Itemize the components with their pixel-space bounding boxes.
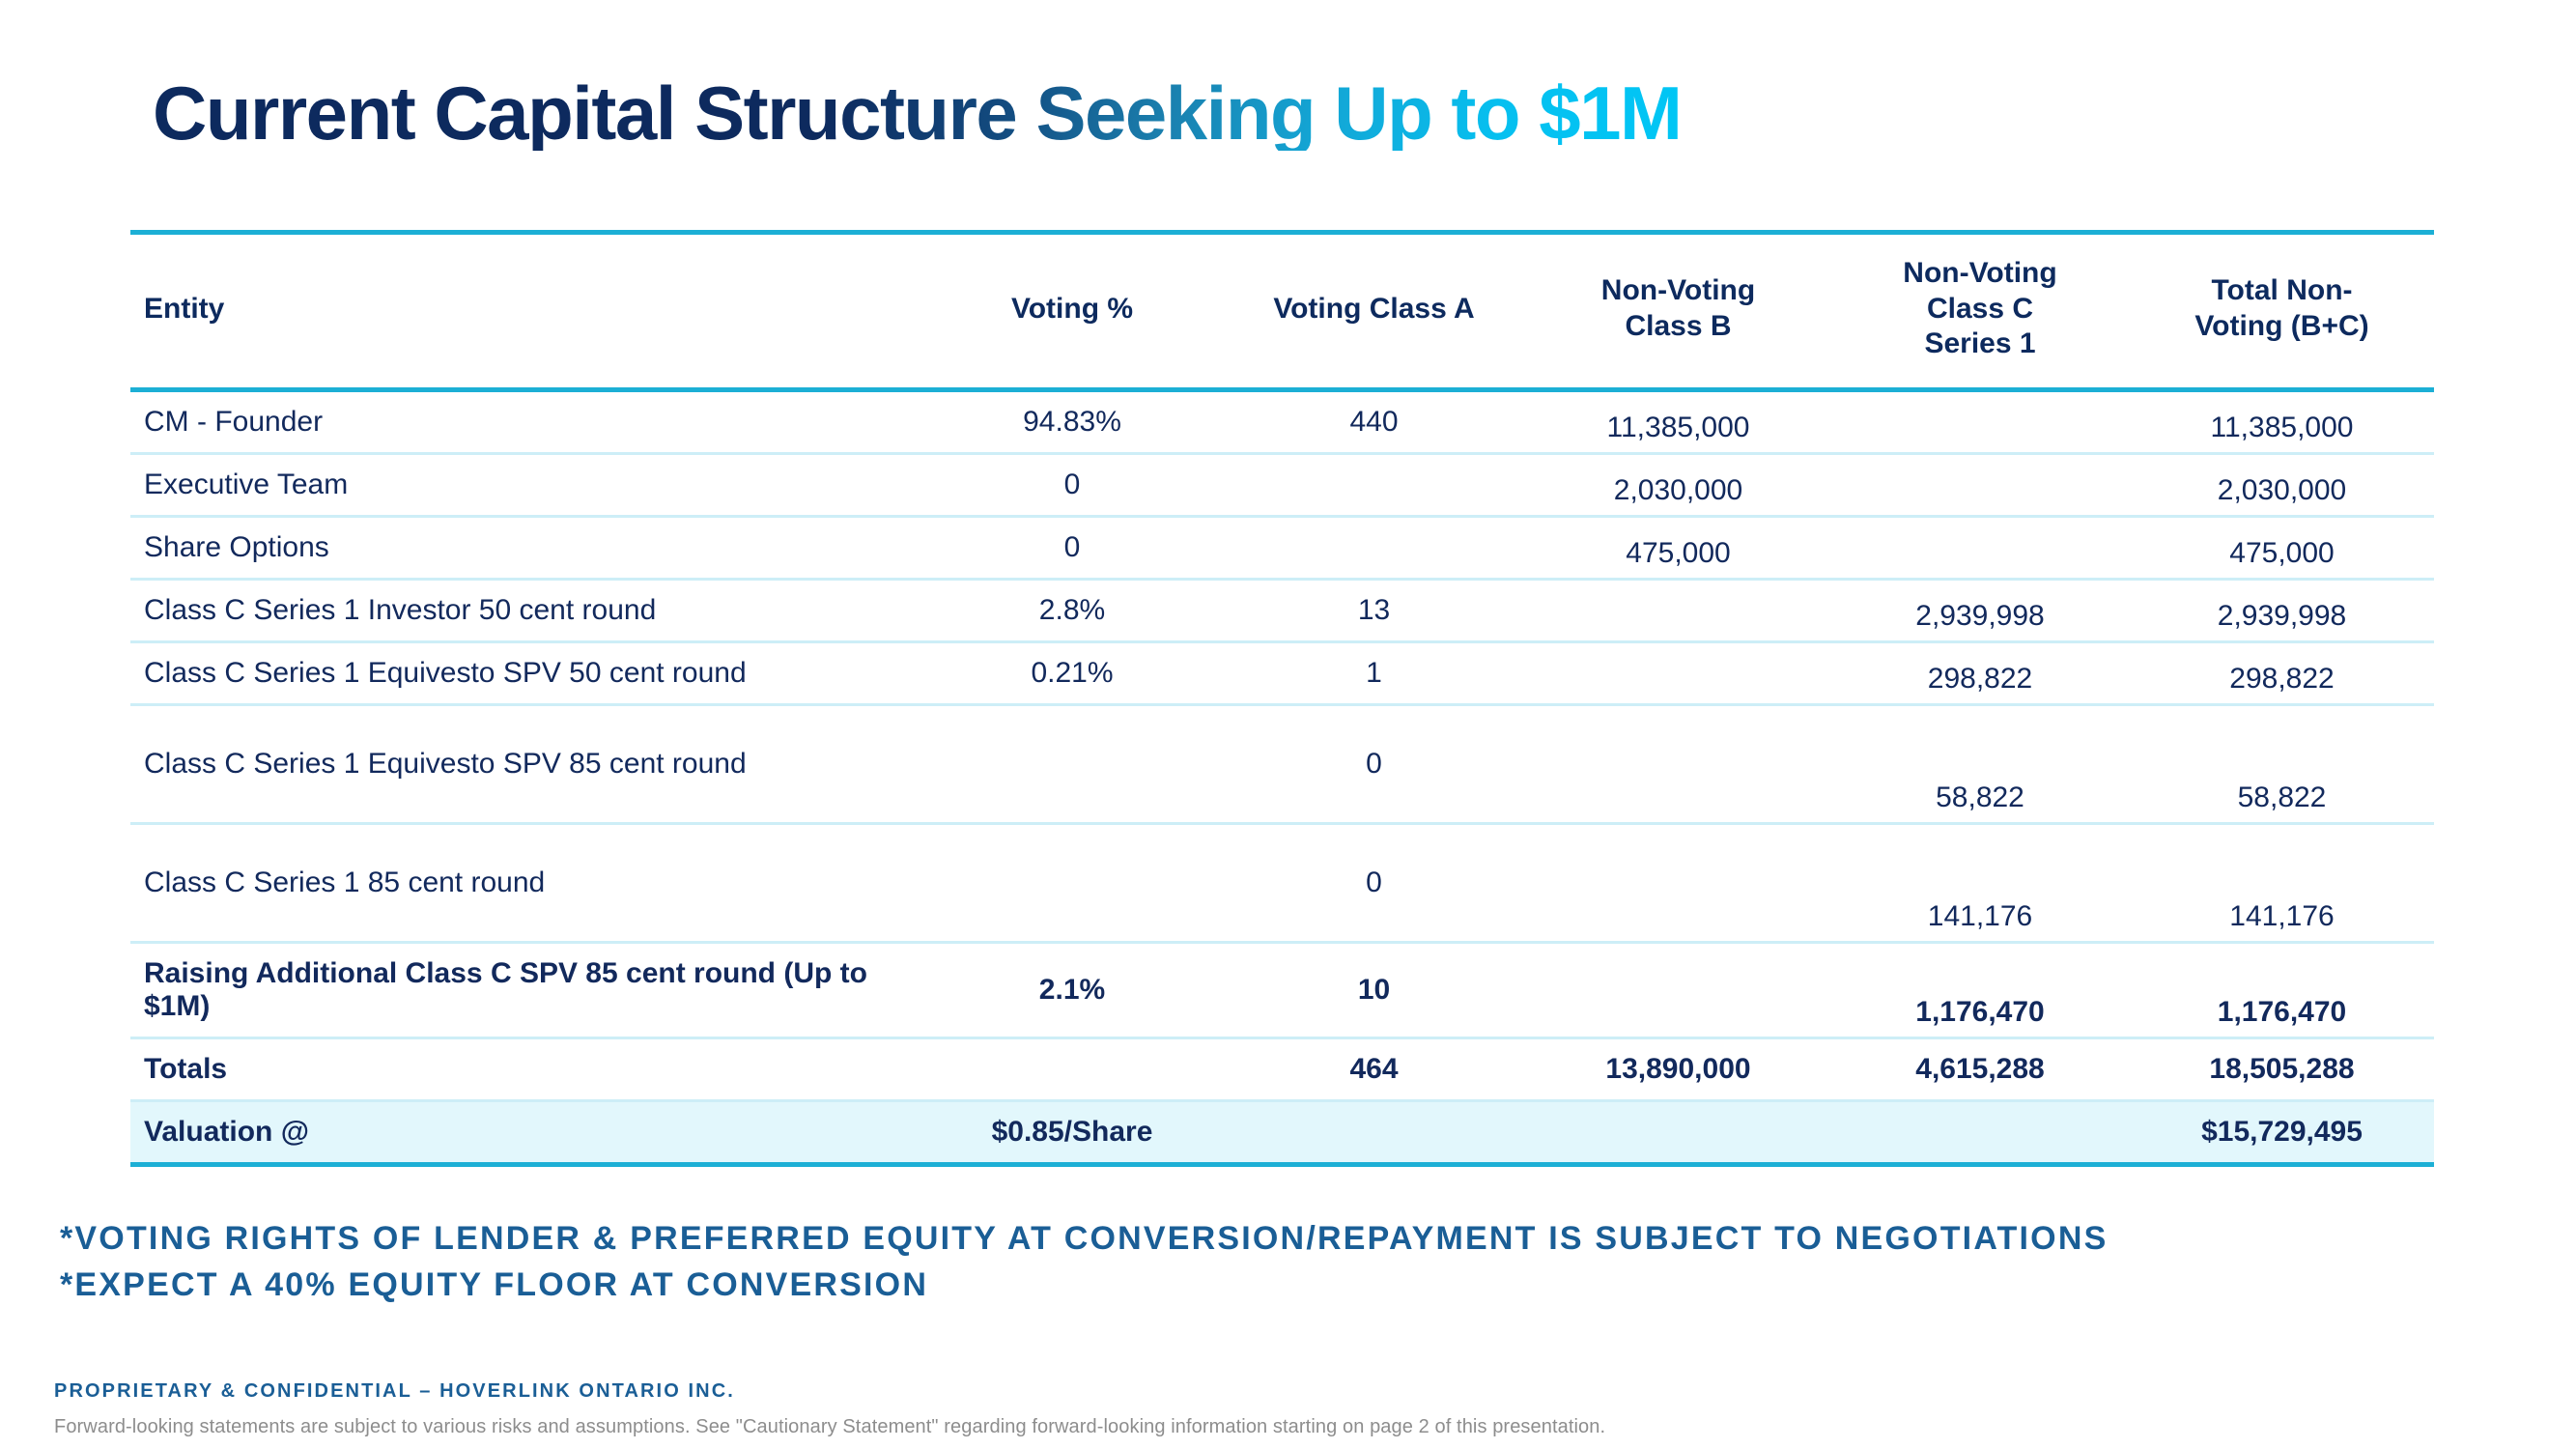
cell-class-a — [1222, 1100, 1526, 1164]
cell-class-b — [1526, 1100, 1830, 1164]
column-header-total-non-voting: Total Non- Voting (B+C) — [2130, 233, 2434, 390]
cell-entity: Class C Series 1 Equivesto SPV 85 cent r… — [130, 704, 922, 823]
table-header-row: Entity Voting % Voting Class A Non-Votin… — [130, 233, 2434, 390]
cell-class-c — [1830, 453, 2130, 516]
cell-class-a: 13 — [1222, 579, 1526, 641]
cell-class-a: 0 — [1222, 704, 1526, 823]
cell-class-b — [1526, 942, 1830, 1037]
column-header-voting-class-a: Voting Class A — [1222, 233, 1526, 390]
cell-entity: Valuation @ — [130, 1100, 922, 1164]
cell-entity: CM - Founder — [130, 389, 922, 453]
cell-class-a — [1222, 516, 1526, 579]
cell-class-c: 298,822 — [1830, 641, 2130, 704]
cell-class-a: 464 — [1222, 1037, 1526, 1100]
column-header-entity: Entity — [130, 233, 922, 390]
table-row: CM - Founder 94.83% 440 11,385,000 11,38… — [130, 389, 2434, 453]
cell-voting-pct: 0 — [922, 453, 1222, 516]
cell-total: 2,939,998 — [2130, 579, 2434, 641]
table-row-raising-additional: Raising Additional Class C SPV 85 cent r… — [130, 942, 2434, 1037]
cell-total: 1,176,470 — [2130, 942, 2434, 1037]
table-row: Share Options 0 475,000 475,000 — [130, 516, 2434, 579]
cell-class-b — [1526, 823, 1830, 942]
table-row: Class C Series 1 Investor 50 cent round … — [130, 579, 2434, 641]
table-row: Class C Series 1 Equivesto SPV 85 cent r… — [130, 704, 2434, 823]
column-header-non-voting-class-c-line3: Series 1 — [1924, 327, 2035, 359]
cell-voting-pct: 94.83% — [922, 389, 1222, 453]
column-header-non-voting-class-b: Non-Voting Class B — [1526, 233, 1830, 390]
cell-total: 11,385,000 — [2130, 389, 2434, 453]
page-title: Current Capital Structure Seeking Up to … — [153, 75, 1681, 151]
cell-class-b — [1526, 641, 1830, 704]
cell-entity: Class C Series 1 Investor 50 cent round — [130, 579, 922, 641]
cell-class-b: 13,890,000 — [1526, 1037, 1830, 1100]
table-row-totals: Totals 464 13,890,000 4,615,288 18,505,2… — [130, 1037, 2434, 1100]
cell-class-c: 58,822 — [1830, 704, 2130, 823]
cell-total: 58,822 — [2130, 704, 2434, 823]
cell-class-b: 11,385,000 — [1526, 389, 1830, 453]
cell-class-c: 2,939,998 — [1830, 579, 2130, 641]
cell-total: 298,822 — [2130, 641, 2434, 704]
table-row: Class C Series 1 85 cent round 0 141,176… — [130, 823, 2434, 942]
cell-total: 141,176 — [2130, 823, 2434, 942]
column-header-voting-pct: Voting % — [922, 233, 1222, 390]
cell-voting-pct: 0.21% — [922, 641, 1222, 704]
capital-structure-table: Entity Voting % Voting Class A Non-Votin… — [130, 230, 2434, 1167]
cell-entity: Raising Additional Class C SPV 85 cent r… — [130, 942, 922, 1037]
cell-entity: Class C Series 1 85 cent round — [130, 823, 922, 942]
cell-class-c: 141,176 — [1830, 823, 2130, 942]
cell-class-c — [1830, 389, 2130, 453]
footnote-line-1: *VOTING RIGHTS OF LENDER & PREFERRED EQU… — [60, 1215, 2108, 1262]
cell-total: 475,000 — [2130, 516, 2434, 579]
cell-class-a: 1 — [1222, 641, 1526, 704]
cell-entity: Executive Team — [130, 453, 922, 516]
cell-voting-pct: 2.1% — [922, 942, 1222, 1037]
column-header-non-voting-class-c-line1: Non-Voting — [1903, 257, 2056, 289]
cell-class-b: 475,000 — [1526, 516, 1830, 579]
cell-class-c: 4,615,288 — [1830, 1037, 2130, 1100]
table-body: CM - Founder 94.83% 440 11,385,000 11,38… — [130, 389, 2434, 1164]
cell-voting-pct — [922, 704, 1222, 823]
column-header-non-voting-class-b-line2: Class B — [1625, 310, 1731, 342]
cell-class-a: 0 — [1222, 823, 1526, 942]
cell-entity: Totals — [130, 1037, 922, 1100]
table-row: Class C Series 1 Equivesto SPV 50 cent r… — [130, 641, 2434, 704]
footer-confidential-notice: PROPRIETARY & CONFIDENTIAL – HOVERLINK O… — [54, 1380, 735, 1403]
table-row: Executive Team 0 2,030,000 2,030,000 — [130, 453, 2434, 516]
column-header-non-voting-class-b-line1: Non-Voting — [1601, 274, 1755, 306]
column-header-non-voting-class-c-series-1: Non-Voting Class C Series 1 — [1830, 233, 2130, 390]
cell-total: 18,505,288 — [2130, 1037, 2434, 1100]
cell-class-b — [1526, 579, 1830, 641]
column-header-total-non-voting-line1: Total Non- — [2211, 274, 2352, 306]
cell-class-c — [1830, 1100, 2130, 1164]
column-header-total-non-voting-line2: Voting (B+C) — [2194, 310, 2368, 342]
footer-disclaimer: Forward-looking statements are subject t… — [54, 1416, 1605, 1438]
cell-total: $15,729,495 — [2130, 1100, 2434, 1164]
table-header: Entity Voting % Voting Class A Non-Votin… — [130, 233, 2434, 390]
cell-entity: Class C Series 1 Equivesto SPV 50 cent r… — [130, 641, 922, 704]
cell-voting-pct: $0.85/Share — [922, 1100, 1222, 1164]
cell-class-a: 10 — [1222, 942, 1526, 1037]
cell-class-a: 440 — [1222, 389, 1526, 453]
cell-class-a — [1222, 453, 1526, 516]
cell-voting-pct: 0 — [922, 516, 1222, 579]
table-row-valuation: Valuation @ $0.85/Share $15,729,495 — [130, 1100, 2434, 1164]
cell-class-c — [1830, 516, 2130, 579]
cell-voting-pct — [922, 1037, 1222, 1100]
footnote-line-2: *EXPECT A 40% EQUITY FLOOR AT CONVERSION — [60, 1262, 2108, 1308]
cell-voting-pct: 2.8% — [922, 579, 1222, 641]
cell-class-b — [1526, 704, 1830, 823]
column-header-non-voting-class-c-line2: Class C — [1927, 293, 2033, 325]
cell-class-c: 1,176,470 — [1830, 942, 2130, 1037]
cell-entity: Share Options — [130, 516, 922, 579]
footnotes: *VOTING RIGHTS OF LENDER & PREFERRED EQU… — [60, 1215, 2108, 1309]
cell-total: 2,030,000 — [2130, 453, 2434, 516]
cell-voting-pct — [922, 823, 1222, 942]
cell-class-b: 2,030,000 — [1526, 453, 1830, 516]
